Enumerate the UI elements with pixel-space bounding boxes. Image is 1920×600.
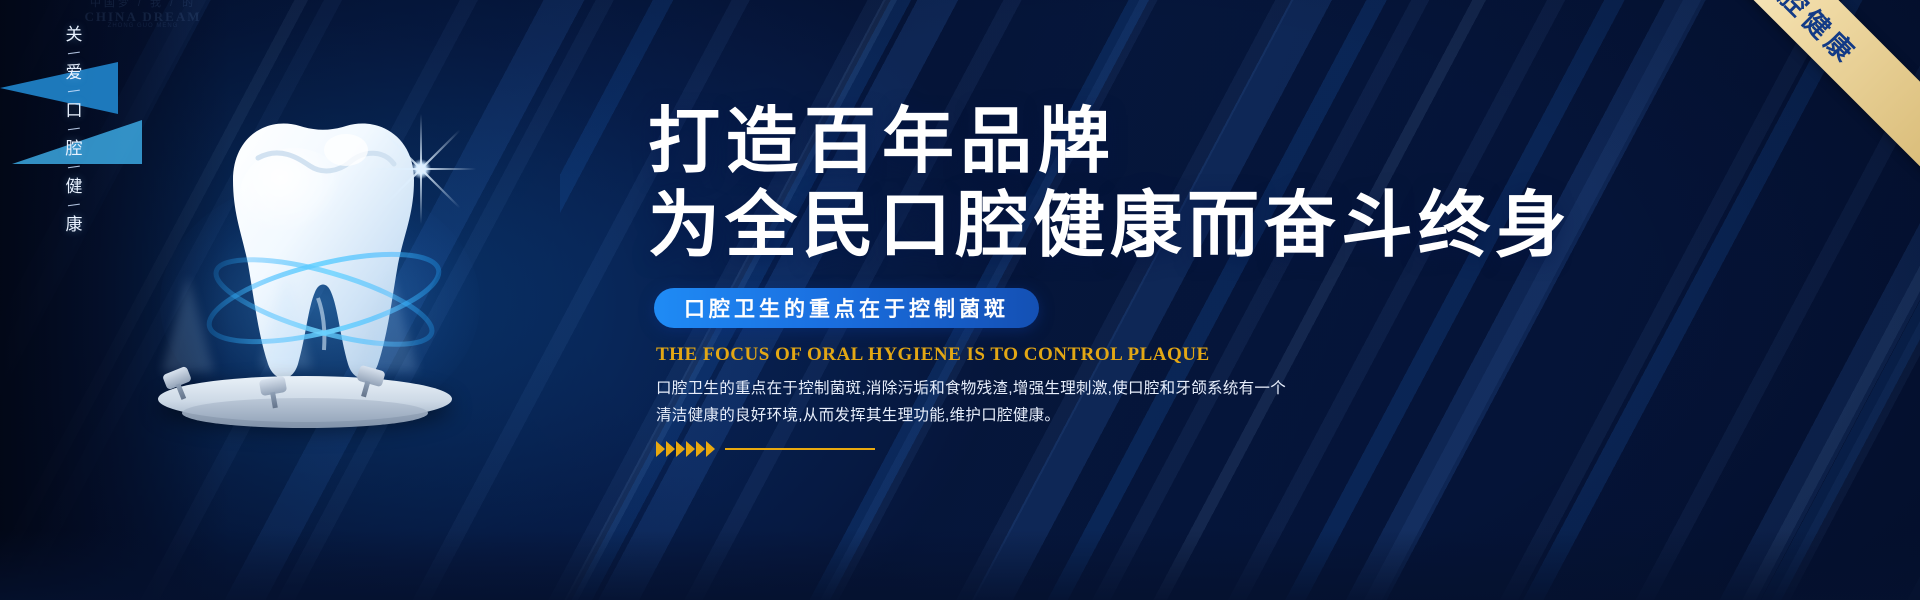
vertical-slogan-char: 康 <box>52 216 96 233</box>
vertical-slogan-separator: 一 <box>51 158 96 177</box>
gold-rule-line <box>725 448 875 450</box>
bottom-fade <box>0 530 1920 600</box>
vertical-slogan-separator: 一 <box>51 196 96 215</box>
watermark-en: CHINA DREAM <box>58 10 228 24</box>
chevron-right-icon <box>696 441 705 457</box>
content-block: 打造百年品牌 为全民口腔健康而奋斗终身 口腔卫生的重点在于控制菌斑 THE FO… <box>648 104 1468 457</box>
vertical-slogan-separator: 一 <box>51 82 96 101</box>
chevron-right-icon <box>676 441 685 457</box>
tooth-illustration <box>120 68 510 428</box>
corner-ribbon: 关爱口腔健康 <box>1602 0 1920 174</box>
chevron-right-icon <box>686 441 695 457</box>
chevron-right-icon <box>666 441 675 457</box>
vertical-slogan: 关 一 爱 一 口 一 腔 一 健 一 康 <box>52 26 96 237</box>
vertical-slogan-separator: 一 <box>51 120 96 139</box>
chevron-right-icon <box>706 441 715 457</box>
vertical-slogan-separator: 一 <box>51 44 96 63</box>
vertical-slogan-char: 关 <box>52 26 96 43</box>
english-tagline: THE FOCUS OF ORAL HYGIENE IS TO CONTROL … <box>656 344 1468 366</box>
vertical-slogan-char: 口 <box>52 102 96 119</box>
subtitle-pill-text: 口腔卫生的重点在于控制菌斑 <box>684 293 1009 323</box>
corner-ribbon-text: 关爱口腔健康 <box>1704 0 1867 72</box>
subtitle-pill: 口腔卫生的重点在于控制菌斑 <box>654 288 1039 328</box>
vertical-slogan-char: 腔 <box>52 140 96 157</box>
vertical-slogan-char: 健 <box>52 178 96 195</box>
chevron-rule <box>656 441 1468 457</box>
headline-line-1: 打造百年品牌 <box>648 104 1468 182</box>
body-line-1: 口腔卫生的重点在于控制菌斑,消除污垢和食物残渣,增强生理刺激,使口腔和牙颌系统有… <box>656 375 1376 402</box>
oral-health-banner: 中国梦 / 我 / 的 CHINA DREAM ZHONG GUO MENG 关… <box>0 0 1920 600</box>
vertical-slogan-char: 爱 <box>52 64 96 81</box>
headline-line-2: 为全民口腔健康而奋斗终身 <box>648 188 1468 266</box>
watermark-cn: 中国梦 / 我 / 的 <box>58 0 228 10</box>
chevron-icons <box>656 441 715 457</box>
chevron-right-icon <box>656 441 665 457</box>
body-line-2: 清洁健康的良好环境,从而发挥其生理功能,维护口腔健康。 <box>656 402 1376 429</box>
display-podium <box>130 364 480 434</box>
body-paragraph: 口腔卫生的重点在于控制菌斑,消除污垢和食物残渣,增强生理刺激,使口腔和牙颌系统有… <box>656 375 1376 429</box>
